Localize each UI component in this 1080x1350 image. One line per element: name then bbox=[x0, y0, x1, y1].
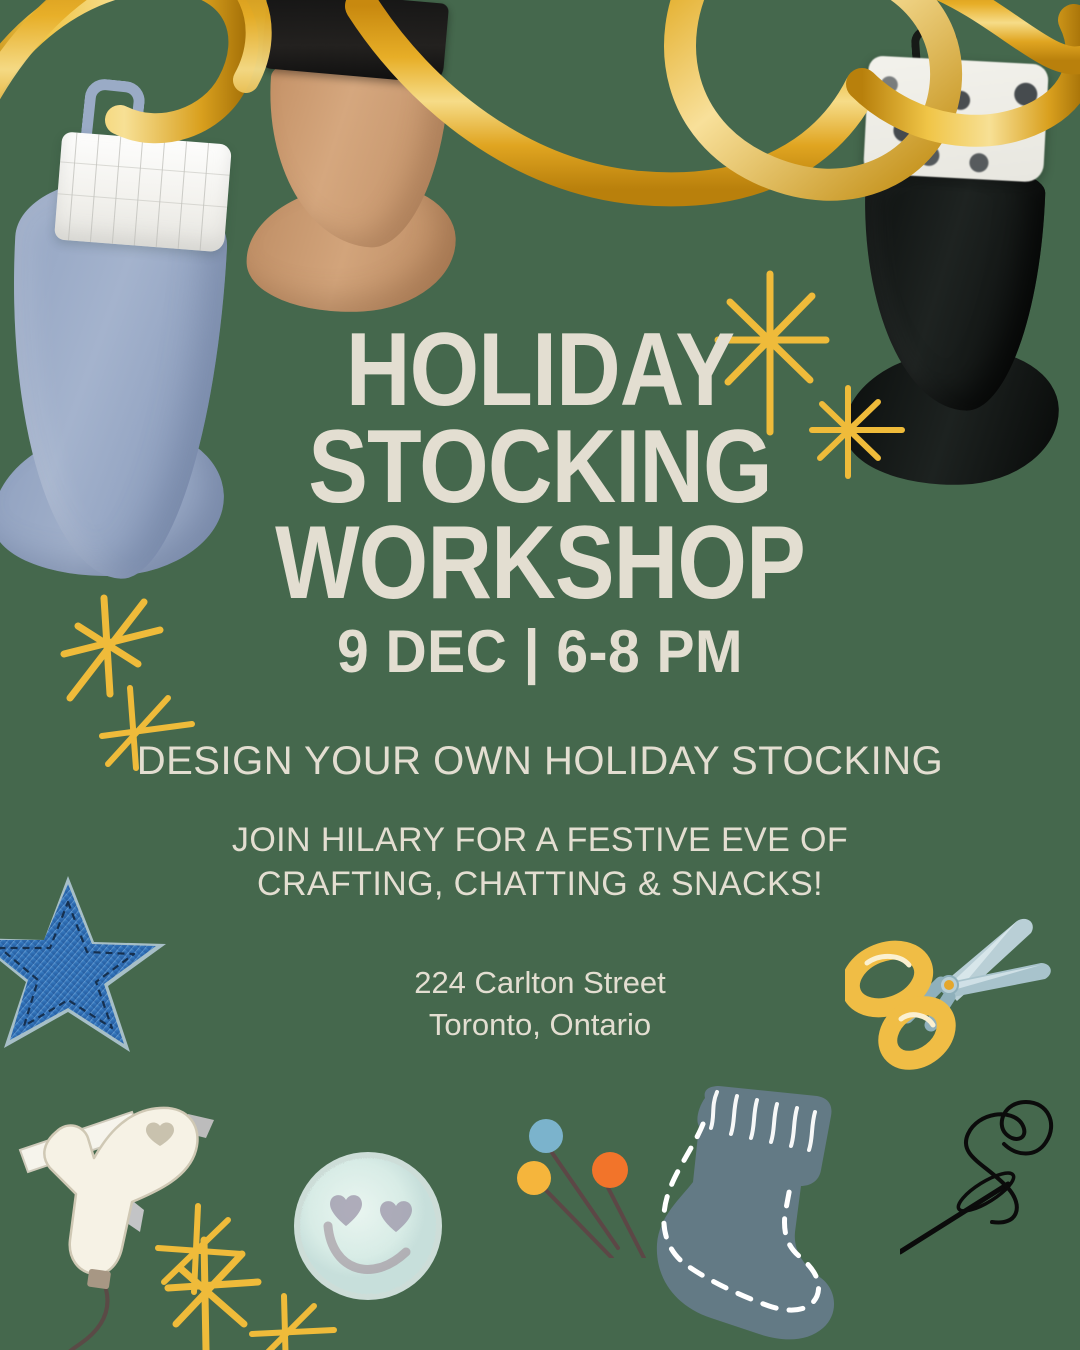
event-date-time: 9 DEC | 6-8 PM bbox=[27, 620, 1053, 685]
gold-ribbon bbox=[0, 0, 1080, 260]
poster-subtitle: DESIGN YOUR OWN HOLIDAY STOCKING bbox=[0, 739, 1080, 784]
pin-head-orange bbox=[592, 1152, 628, 1188]
holiday-workshop-poster: HOLIDAY STOCKING WORKSHOP 9 DEC | 6-8 PM… bbox=[0, 0, 1080, 1350]
headline-line-2: STOCKING bbox=[76, 419, 1005, 516]
description-line-1: JOIN HILARY FOR A FESTIVE EVE OF bbox=[0, 818, 1080, 862]
sparkle-icon-gluegun bbox=[142, 1196, 252, 1306]
address-line-1: 224 Carlton Street bbox=[0, 962, 1080, 1004]
venue-address: 224 Carlton Street Toronto, Ontario bbox=[0, 962, 1080, 1046]
poster-text-block: HOLIDAY STOCKING WORKSHOP 9 DEC | 6-8 PM… bbox=[0, 322, 1080, 1047]
smiley-face-patch bbox=[288, 1148, 448, 1308]
illustrated-stocking-icon bbox=[645, 1082, 865, 1350]
headline-line-1: HOLIDAY bbox=[76, 322, 1005, 419]
poster-description: JOIN HILARY FOR A FESTIVE EVE OF CRAFTIN… bbox=[0, 818, 1080, 906]
description-line-2: CRAFTING, CHATTING & SNACKS! bbox=[0, 862, 1080, 906]
pin-head-yellow bbox=[517, 1161, 551, 1195]
sparkle-icon-bottom-small bbox=[248, 1292, 348, 1350]
address-line-2: Toronto, Ontario bbox=[0, 1004, 1080, 1046]
pin-head-blue bbox=[529, 1119, 563, 1153]
headline-line-3: WORKSHOP bbox=[76, 515, 1005, 612]
needle-and-thread-icon bbox=[900, 1080, 1080, 1320]
